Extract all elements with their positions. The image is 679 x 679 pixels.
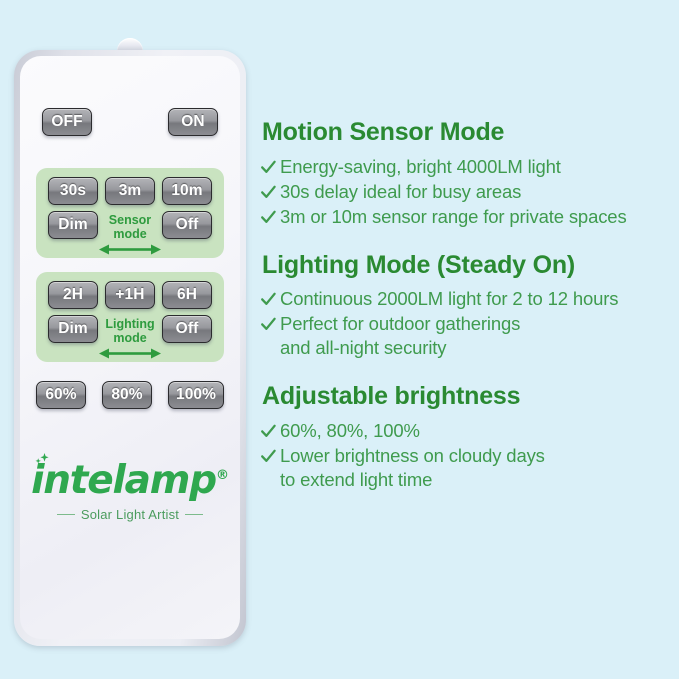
tagline-rule-right — [185, 514, 203, 516]
product-feature-graphic: OFF ON 30s 3m 10m Dim Sensor — [0, 0, 679, 679]
lighting-mode-panel: 2H +1H 6H Dim Lighting mode — [36, 272, 224, 362]
lighting-mode-label: Lighting mode — [98, 315, 162, 359]
sensor-range-3m-button[interactable]: 3m — [105, 177, 155, 205]
lighting-off-button[interactable]: Off — [162, 315, 212, 343]
lighting-dim-button[interactable]: Dim — [48, 315, 98, 343]
feature-bullet: Perfect for outdoor gatheringsand all-ni… — [260, 312, 672, 360]
sensor-mode-label-line2: mode — [113, 227, 146, 241]
feature-bullet: Energy-saving, bright 4000LM light — [260, 155, 672, 179]
sensor-dim-off-row: Dim Sensor mode Off — [42, 205, 218, 255]
sensor-dim-button[interactable]: Dim — [48, 211, 98, 239]
sensor-mode-label: Sensor mode — [98, 211, 162, 255]
feature-bullet-text: Continuous 2000LM light for 2 to 12 hour… — [280, 287, 618, 311]
lighting-duration-row: 2H +1H 6H — [42, 281, 218, 309]
feature-bullet-list: Continuous 2000LM light for 2 to 12 hour… — [260, 287, 672, 360]
brightness-80-button[interactable]: 80% — [102, 381, 152, 409]
lighting-2h-button[interactable]: 2H — [48, 281, 98, 309]
brand-wordmark-text: intelamp — [31, 458, 216, 503]
feature-bullet: 3m or 10m sensor range for private space… — [260, 205, 672, 229]
brightness-button-row: 60% 80% 100% — [20, 381, 240, 409]
section-title: Motion Sensor Mode — [262, 118, 672, 148]
feature-bullet: Continuous 2000LM light for 2 to 12 hour… — [260, 287, 672, 311]
feature-bullet: 30s delay ideal for busy areas — [260, 180, 672, 204]
lighting-dim-off-row: Dim Lighting mode Off — [42, 309, 218, 359]
feature-bullet-text: Perfect for outdoor gatheringsand all-ni… — [280, 312, 520, 360]
feature-bullet: 60%, 80%, 100% — [260, 419, 672, 443]
sensor-range-10m-button[interactable]: 10m — [162, 177, 212, 205]
feature-section-lighting-mode: Lighting Mode (Steady On) Continuous 200… — [260, 251, 672, 361]
feature-bullet-text: 3m or 10m sensor range for private space… — [280, 205, 627, 229]
lighting-mode-double-arrow-icon — [98, 348, 162, 359]
tagline-rule-left — [57, 514, 75, 516]
brand-wordmark: intelamp® — [31, 461, 229, 500]
check-icon — [260, 287, 277, 311]
check-icon — [260, 419, 277, 443]
feature-bullet-list: 60%, 80%, 100% Lower brightness on cloud… — [260, 419, 672, 492]
feature-bullet-list: Energy-saving, bright 4000LM light 30s d… — [260, 155, 672, 229]
sensor-mode-label-line1: Sensor — [109, 213, 151, 227]
remote-faceplate: OFF ON 30s 3m 10m Dim Sensor — [20, 56, 240, 639]
check-icon — [260, 180, 277, 204]
check-icon — [260, 312, 277, 336]
power-on-button[interactable]: ON — [168, 108, 218, 136]
sensor-timing-row: 30s 3m 10m — [42, 177, 218, 205]
check-icon — [260, 155, 277, 179]
brightness-60-button[interactable]: 60% — [36, 381, 86, 409]
sensor-mode-double-arrow-icon — [98, 244, 162, 255]
feature-bullet-text: 30s delay ideal for busy areas — [280, 180, 521, 204]
remote-body: OFF ON 30s 3m 10m Dim Sensor — [14, 50, 246, 646]
lighting-mode-label-line2: mode — [113, 331, 146, 345]
feature-section-adjustable-brightness: Adjustable brightness 60%, 80%, 100% Low… — [260, 382, 672, 492]
brand-tagline: Solar Light Artist — [20, 507, 240, 522]
feature-bullet-text: Energy-saving, bright 4000LM light — [280, 155, 561, 179]
section-title: Lighting Mode (Steady On) — [262, 251, 672, 281]
sensor-delay-30s-button[interactable]: 30s — [48, 177, 98, 205]
brightness-100-button[interactable]: 100% — [168, 381, 224, 409]
remote-control: OFF ON 30s 3m 10m Dim Sensor — [14, 38, 246, 646]
section-title: Adjustable brightness — [262, 382, 672, 412]
lighting-6h-button[interactable]: 6H — [162, 281, 212, 309]
registered-trademark-icon: ® — [216, 468, 229, 483]
power-off-button[interactable]: OFF — [42, 108, 92, 136]
feature-text-column: Motion Sensor Mode Energy-saving, bright… — [260, 118, 672, 493]
brand-logo: intelamp® Solar Light Artist — [20, 461, 240, 522]
sensor-off-button[interactable]: Off — [162, 211, 212, 239]
lighting-plus-1h-button[interactable]: +1H — [105, 281, 155, 309]
check-icon — [260, 205, 277, 229]
lighting-mode-label-line1: Lighting — [105, 317, 154, 331]
check-icon — [260, 444, 277, 468]
brand-tagline-text: Solar Light Artist — [81, 507, 179, 522]
feature-bullet: Lower brightness on cloudy daysto extend… — [260, 444, 672, 492]
feature-section-motion-sensor: Motion Sensor Mode Energy-saving, bright… — [260, 118, 672, 229]
feature-bullet-text: 60%, 80%, 100% — [280, 419, 420, 443]
sparkle-icon — [33, 452, 55, 468]
power-button-row: OFF ON — [20, 108, 240, 136]
feature-bullet-text: Lower brightness on cloudy daysto extend… — [280, 444, 545, 492]
sensor-mode-panel: 30s 3m 10m Dim Sensor mode — [36, 168, 224, 258]
